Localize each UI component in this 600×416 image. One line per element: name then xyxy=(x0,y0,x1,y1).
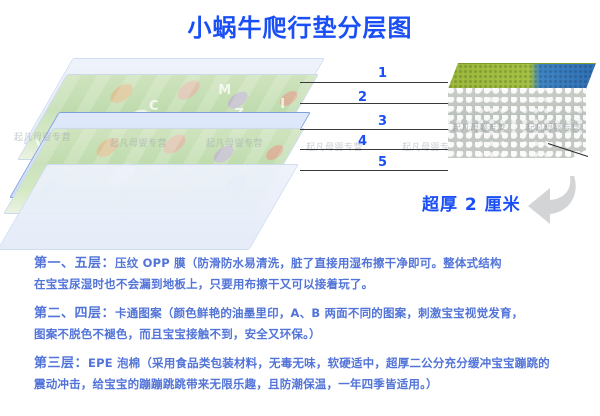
watermark: 起凡母婴专营 xyxy=(14,130,71,143)
layer-number-3: 3 xyxy=(378,114,387,129)
layer-1-opp-film xyxy=(0,164,299,250)
watermark: 起凡母婴专营 xyxy=(206,136,263,149)
leader-line-2 xyxy=(300,103,448,104)
layer-number-1: 1 xyxy=(378,66,387,81)
watermark: 起凡母婴专营 xyxy=(110,136,167,149)
watermark: 起凡母婴专营 xyxy=(526,121,580,134)
foam-block-photo: 起凡母婴专营 起凡母婴专营 xyxy=(448,63,596,158)
leader-line-1 xyxy=(300,82,448,83)
paragraph-line-2: 震动冲击，给宝宝的蹦蹦跳跳带来无限乐趣，且防潮保温，一年四季皆适用。） xyxy=(34,377,438,391)
watermark: 起凡母婴专营 xyxy=(452,121,506,134)
paragraph-layer-3: 第三层：EPE 泡棉（采用食品类包装材料，无毒无味，软硬适中，超厚二公分充分缓冲… xyxy=(0,352,600,394)
page-title: 小蜗牛爬行垫分层图 xyxy=(0,8,600,43)
leader-line-4 xyxy=(300,149,448,150)
thickness-label: 超厚 2 厘米 xyxy=(422,190,521,215)
layer-number-2: 2 xyxy=(358,90,367,105)
curved-arrow-left-icon xyxy=(524,172,582,230)
leader-line-5 xyxy=(300,170,448,171)
description-paragraphs: 第一、五层：压纹 OPP 膜（防滑防水易清洗，脏了直接用湿布擦干净即可。整体式结… xyxy=(0,252,600,402)
page-root: 小蜗牛爬行垫分层图 M C Z I B V 起凡母婴专营 起凡母婴专营 起凡母婴… xyxy=(0,0,600,416)
paragraph-line-2: 图案不脱色不褪色，而且宝宝接触不到，安全又环保。） xyxy=(34,327,321,341)
paragraph-line-1: 卡通图案（颜色鲜艳的油墨里印，A、B 两面不同的图案，刺激宝宝视觉发育， xyxy=(115,306,523,320)
watermark: 起凡母婴专营 xyxy=(306,140,363,153)
paragraph-lead: 第二、四层： xyxy=(34,306,115,321)
paragraph-lead: 第一、五层： xyxy=(34,256,115,271)
paragraph-line-1: EPE 泡棉（采用食品类包装材料，无毒无味，软硬适中，超厚二公分充分缓冲宝宝蹦跳… xyxy=(88,356,550,370)
paragraph-line-1: 压纹 OPP 膜（防滑防水易清洗，脏了直接用湿布擦干净即可。整体式结构 xyxy=(115,256,502,270)
layer-number-5: 5 xyxy=(378,155,387,170)
paragraph-layer-1-5: 第一、五层：压纹 OPP 膜（防滑防水易清洗，脏了直接用湿布擦干净即可。整体式结… xyxy=(0,252,600,294)
paragraph-line-2: 在宝宝尿湿时也不会漏到地板上，只要用布擦干又可以接着玩了。 xyxy=(34,277,373,291)
layer-number-4: 4 xyxy=(358,134,367,149)
foam-block-top-surface xyxy=(448,63,596,89)
leader-line-3 xyxy=(300,129,448,130)
paragraph-layer-2-4: 第二、四层：卡通图案（颜色鲜艳的油墨里印，A、B 两面不同的图案，刺激宝宝视觉发… xyxy=(0,302,600,344)
paragraph-lead: 第三层： xyxy=(34,356,88,371)
